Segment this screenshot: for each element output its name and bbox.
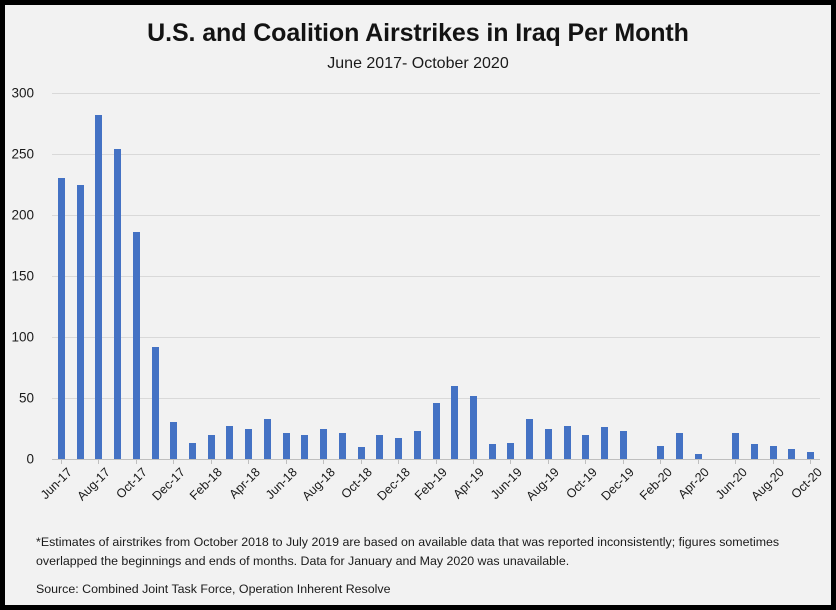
x-axis-tick — [173, 459, 174, 464]
x-axis-tick-label: Dec-17 — [149, 465, 187, 503]
bar — [208, 435, 215, 459]
chart-card: U.S. and Coalition Airstrikes in Iraq Pe… — [5, 5, 831, 605]
bar — [245, 429, 252, 460]
bar — [301, 435, 308, 459]
bar — [545, 429, 552, 460]
x-axis-tick-label: Oct-17 — [114, 465, 150, 501]
x-axis-tick — [623, 459, 624, 464]
x-axis-tick-label: Apr-18 — [226, 465, 262, 501]
x-axis-tick-label: Jun-20 — [713, 465, 750, 502]
bar — [770, 446, 777, 459]
x-axis-tick — [398, 459, 399, 464]
bar — [732, 433, 739, 459]
bar — [807, 452, 814, 459]
bar — [676, 433, 683, 459]
bar — [358, 447, 365, 459]
bar — [339, 433, 346, 459]
chart-footnote: *Estimates of airstrikes from October 20… — [36, 533, 802, 571]
bar — [320, 429, 327, 460]
x-axis-tick-label: Aug-19 — [524, 465, 562, 503]
x-axis-tick-label: Apr-19 — [451, 465, 487, 501]
plot-wrapper: 050100150200250300 Jun-17Aug-17Oct-17Dec… — [5, 5, 831, 605]
x-axis-tick-label: Oct-18 — [339, 465, 375, 501]
x-axis-tick — [361, 459, 362, 464]
bar — [470, 396, 477, 459]
bar — [414, 431, 421, 459]
bar — [58, 178, 65, 459]
bar — [601, 427, 608, 459]
bar — [283, 433, 290, 459]
bar — [620, 431, 627, 459]
x-axis-tick-label: Feb-19 — [412, 465, 450, 503]
bar — [451, 386, 458, 459]
x-axis-tick — [773, 459, 774, 464]
x-axis-tick-label: Aug-17 — [74, 465, 112, 503]
y-axis-tick-label: 250 — [0, 147, 34, 162]
bar — [189, 443, 196, 459]
x-axis-tick — [660, 459, 661, 464]
x-axis-tick — [735, 459, 736, 464]
bar — [133, 232, 140, 459]
x-axis-tick-label: Aug-18 — [299, 465, 337, 503]
x-axis-tick-label: Jun-19 — [488, 465, 525, 502]
y-axis-tick-label: 300 — [0, 86, 34, 101]
x-axis-tick — [98, 459, 99, 464]
bar — [264, 419, 271, 459]
x-axis-tick — [585, 459, 586, 464]
x-axis-tick-label: Aug-20 — [749, 465, 787, 503]
x-axis-tick-label: Oct-20 — [788, 465, 824, 501]
x-axis-tick — [61, 459, 62, 464]
x-axis-tick-label: Apr-20 — [676, 465, 712, 501]
x-axis-tick — [248, 459, 249, 464]
x-axis-tick-label: Dec-18 — [374, 465, 412, 503]
x-axis-tick — [698, 459, 699, 464]
x-axis-tick — [286, 459, 287, 464]
chart-source: Source: Combined Joint Task Force, Opera… — [36, 582, 802, 596]
bar — [170, 422, 177, 459]
bar — [489, 444, 496, 459]
x-axis-tick — [510, 459, 511, 464]
bar — [507, 443, 514, 459]
bar — [526, 419, 533, 459]
x-axis-tick-label: Dec-19 — [599, 465, 637, 503]
bar — [152, 347, 159, 459]
bar — [433, 403, 440, 459]
bar — [376, 435, 383, 459]
bar — [395, 438, 402, 459]
x-axis-tick — [211, 459, 212, 464]
x-axis-tick — [473, 459, 474, 464]
bar-series — [52, 93, 820, 459]
y-axis-tick-label: 150 — [0, 269, 34, 284]
x-axis-tick-label: Feb-20 — [637, 465, 675, 503]
bar — [226, 426, 233, 459]
x-axis-tick — [810, 459, 811, 464]
x-axis-tick-label: Feb-18 — [187, 465, 225, 503]
x-axis-tick-label: Jun-18 — [263, 465, 300, 502]
bar — [114, 149, 121, 459]
x-axis-tick-label: Oct-19 — [563, 465, 599, 501]
x-axis-tick-label: Jun-17 — [38, 465, 75, 502]
x-axis-tick — [548, 459, 549, 464]
bar — [582, 435, 589, 459]
x-axis-tick — [323, 459, 324, 464]
y-axis-tick-label: 200 — [0, 208, 34, 223]
bar — [751, 444, 758, 459]
x-axis-tick — [436, 459, 437, 464]
plot-area: 050100150200250300 Jun-17Aug-17Oct-17Dec… — [52, 93, 820, 459]
x-axis-tick — [136, 459, 137, 464]
bar — [95, 115, 102, 459]
y-axis-tick-label: 0 — [0, 452, 34, 467]
bar — [788, 449, 795, 459]
bar — [564, 426, 571, 459]
bar — [77, 185, 84, 460]
bar — [657, 446, 664, 459]
y-axis-tick-label: 100 — [0, 330, 34, 345]
y-axis-tick-label: 50 — [0, 391, 34, 406]
